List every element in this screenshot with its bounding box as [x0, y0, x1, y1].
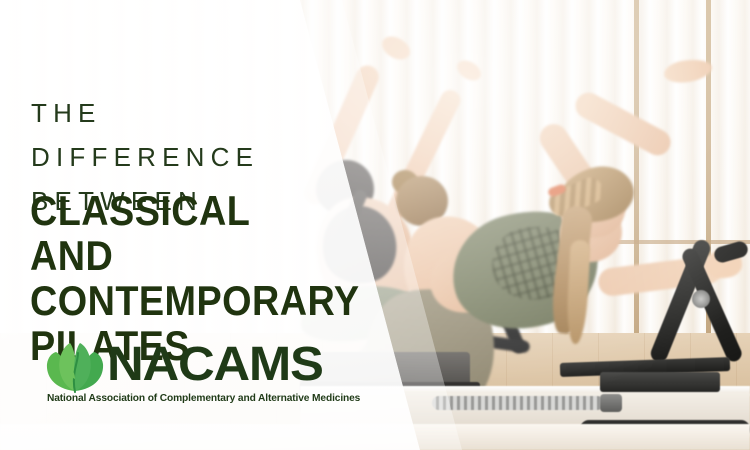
window-mullion-horizontal [600, 240, 750, 244]
text-content-block: THE DIFFERENCE BETWEEN CLASSICAL AND CON… [0, 0, 330, 450]
reformer-spring-hook [600, 394, 622, 412]
reformer-spring [432, 396, 604, 410]
reformer-plate [600, 372, 720, 392]
pilates-promo-banner: THE DIFFERENCE BETWEEN CLASSICAL AND CON… [0, 0, 750, 450]
reformer-joint [692, 290, 710, 308]
logo-tagline: National Association of Complementary an… [47, 393, 359, 404]
lotus-leaf-icon [45, 341, 105, 393]
nacams-logo[interactable]: NACAMS National Association of Complemen… [45, 341, 355, 411]
logo-wordmark: NACAMS [107, 339, 323, 391]
